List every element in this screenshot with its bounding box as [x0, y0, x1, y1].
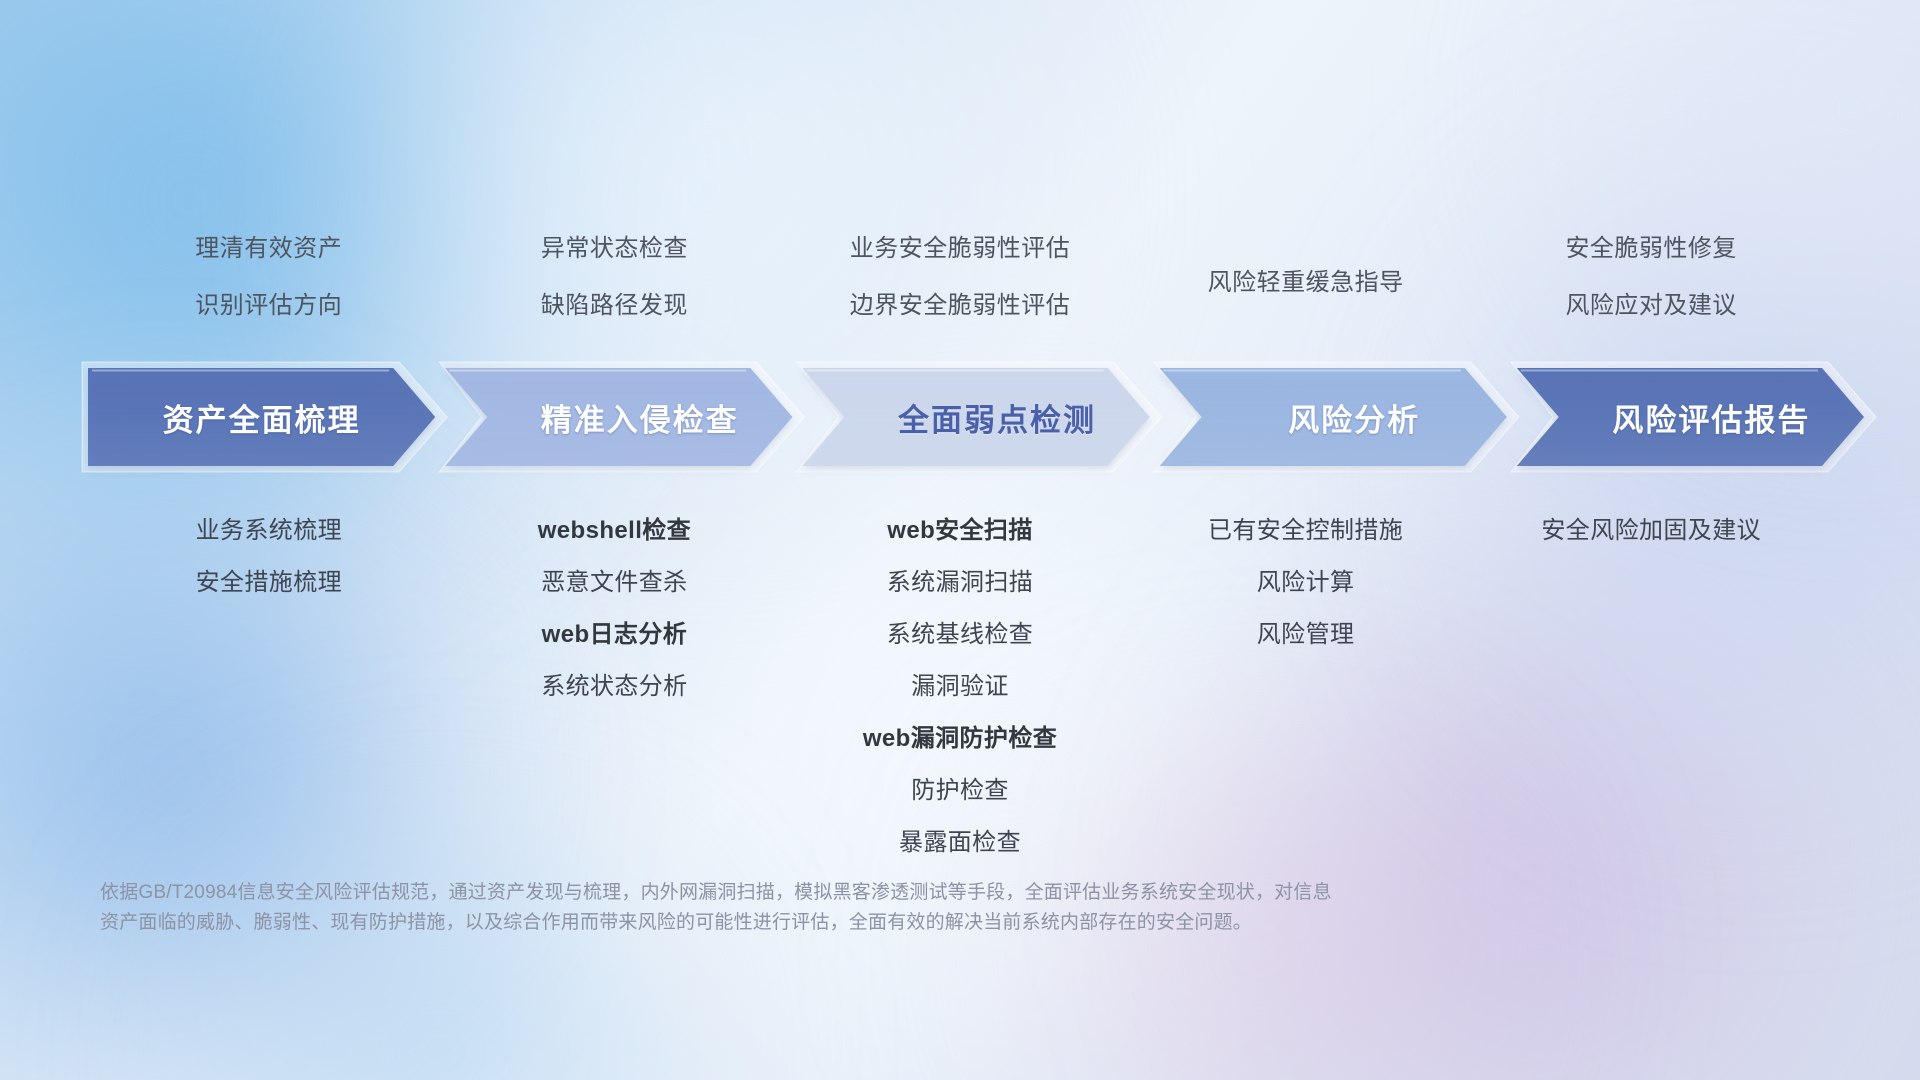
top-note: 识别评估方向 [195, 285, 342, 320]
chevron-shapes [88, 368, 1832, 466]
top-note-column-weakness-detection: 业务安全脆弱性评估边界安全脆弱性评估 [787, 228, 1133, 320]
list-item: 风险计算 [1257, 562, 1355, 597]
list-item: 业务系统梳理 [196, 510, 342, 545]
list-item: 漏洞验证 [911, 666, 1009, 701]
chevron-intrusion-check[interactable] [445, 368, 792, 466]
top-note-column-risk-report: 安全脆弱性修复风险应对及建议 [1478, 228, 1824, 320]
list-item: 暴露面检查 [899, 822, 1021, 857]
list-item: web日志分析 [542, 614, 687, 649]
footer-line-2: 资产面临的威胁、脆弱性、现有防护措施，以及综合作用而带来风险的可能性进行评估，全… [100, 908, 1660, 938]
chevron-risk-report[interactable] [1517, 368, 1864, 466]
list-item: 安全措施梳理 [196, 562, 342, 597]
top-note-column-risk-analysis: 风险轻重缓急指导 [1133, 228, 1479, 320]
detail-list-risk-report: 安全风险加固及建议 [1478, 510, 1824, 857]
chevron-weakness-detection[interactable] [802, 368, 1149, 466]
footer-line-1: 依据GB/T20984信息安全风险评估规范，通过资产发现与梳理，内外网漏洞扫描，… [100, 878, 1660, 908]
footer-description: 依据GB/T20984信息安全风险评估规范，通过资产发现与梳理，内外网漏洞扫描，… [100, 878, 1660, 938]
top-note: 业务安全脆弱性评估 [850, 228, 1071, 263]
list-item: web安全扫描 [887, 510, 1032, 545]
list-item: 防护检查 [911, 770, 1009, 805]
stage-detail-lists: 业务系统梳理安全措施梳理webshell检查恶意文件查杀web日志分析系统状态分… [96, 510, 1824, 857]
detail-list-intrusion-check: webshell检查恶意文件查杀web日志分析系统状态分析 [442, 510, 788, 857]
chevron-risk-analysis[interactable] [1160, 368, 1507, 466]
list-item: 系统状态分析 [541, 666, 687, 701]
process-diagram: 理清有效资产识别评估方向异常状态检查缺陷路径发现业务安全脆弱性评估边界安全脆弱性… [0, 0, 1920, 1080]
top-notes-row: 理清有效资产识别评估方向异常状态检查缺陷路径发现业务安全脆弱性评估边界安全脆弱性… [96, 228, 1824, 320]
detail-list-asset-inventory: 业务系统梳理安全措施梳理 [96, 510, 442, 857]
detail-list-weakness-detection: web安全扫描系统漏洞扫描系统基线检查漏洞验证web漏洞防护检查防护检查暴露面检… [787, 510, 1133, 857]
top-note-column-intrusion-check: 异常状态检查缺陷路径发现 [442, 228, 788, 320]
chevron-asset-inventory[interactable] [88, 368, 435, 466]
list-item: 已有安全控制措施 [1208, 510, 1403, 545]
top-note: 缺陷路径发现 [541, 285, 688, 320]
top-note: 边界安全脆弱性评估 [850, 285, 1071, 320]
top-note: 安全脆弱性修复 [1565, 228, 1737, 263]
top-note: 理清有效资产 [195, 228, 342, 263]
list-item: 恶意文件查杀 [541, 562, 687, 597]
top-note: 风险应对及建议 [1565, 285, 1737, 320]
list-item: web漏洞防护检查 [863, 718, 1057, 753]
stage-chevron-band: 资产全面梳理精准入侵检查全面弱点检测风险分析风险评估报告 [88, 368, 1832, 466]
top-note: 风险轻重缓急指导 [1208, 262, 1404, 297]
detail-list-risk-analysis: 已有安全控制措施风险计算风险管理 [1133, 510, 1479, 857]
list-item: 风险管理 [1257, 614, 1355, 649]
list-item: webshell检查 [538, 510, 691, 545]
list-item: 安全风险加固及建议 [1541, 510, 1761, 545]
top-note: 异常状态检查 [541, 228, 688, 263]
list-item: 系统基线检查 [887, 614, 1033, 649]
top-note-column-asset-inventory: 理清有效资产识别评估方向 [96, 228, 442, 320]
list-item: 系统漏洞扫描 [887, 562, 1033, 597]
